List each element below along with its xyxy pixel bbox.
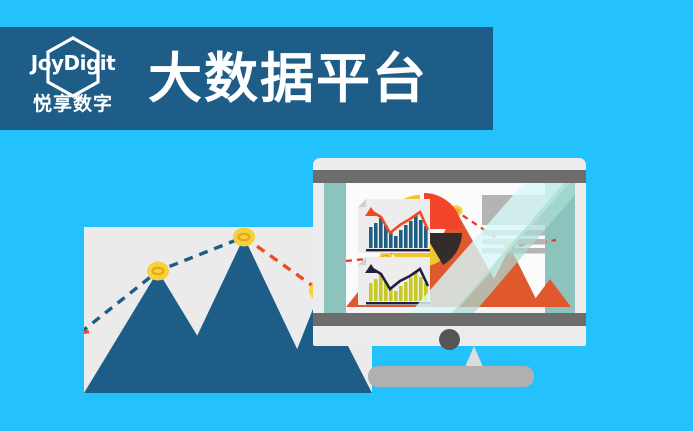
desktop-monitor xyxy=(313,158,586,346)
poster-canvas: JoyDigit 悦享数字 大数据平台 xyxy=(0,0,693,431)
data-node-1 xyxy=(147,262,169,281)
camera-dot-icon xyxy=(439,329,460,350)
monitor-screen xyxy=(324,183,575,313)
brand-logo: JoyDigit 悦享数字 xyxy=(12,33,134,125)
dashboard-graphic xyxy=(324,183,575,313)
page-title: 大数据平台 xyxy=(148,52,428,106)
monitor-top-bar xyxy=(313,170,586,183)
blue-card-axis xyxy=(366,249,430,251)
monitor-bottom-bar xyxy=(313,313,586,326)
data-node-2 xyxy=(233,228,255,247)
logo-wordmark: JoyDigit xyxy=(12,53,134,73)
screen-left-panel xyxy=(324,183,346,313)
blue-bar-card xyxy=(358,199,430,253)
olive-bar-card xyxy=(358,257,430,305)
trend-line-red-stub xyxy=(84,331,92,333)
header-banner: JoyDigit 悦享数字 大数据平台 xyxy=(0,27,493,130)
logo-subtitle: 悦享数字 xyxy=(12,95,134,114)
stand-base xyxy=(368,366,534,387)
